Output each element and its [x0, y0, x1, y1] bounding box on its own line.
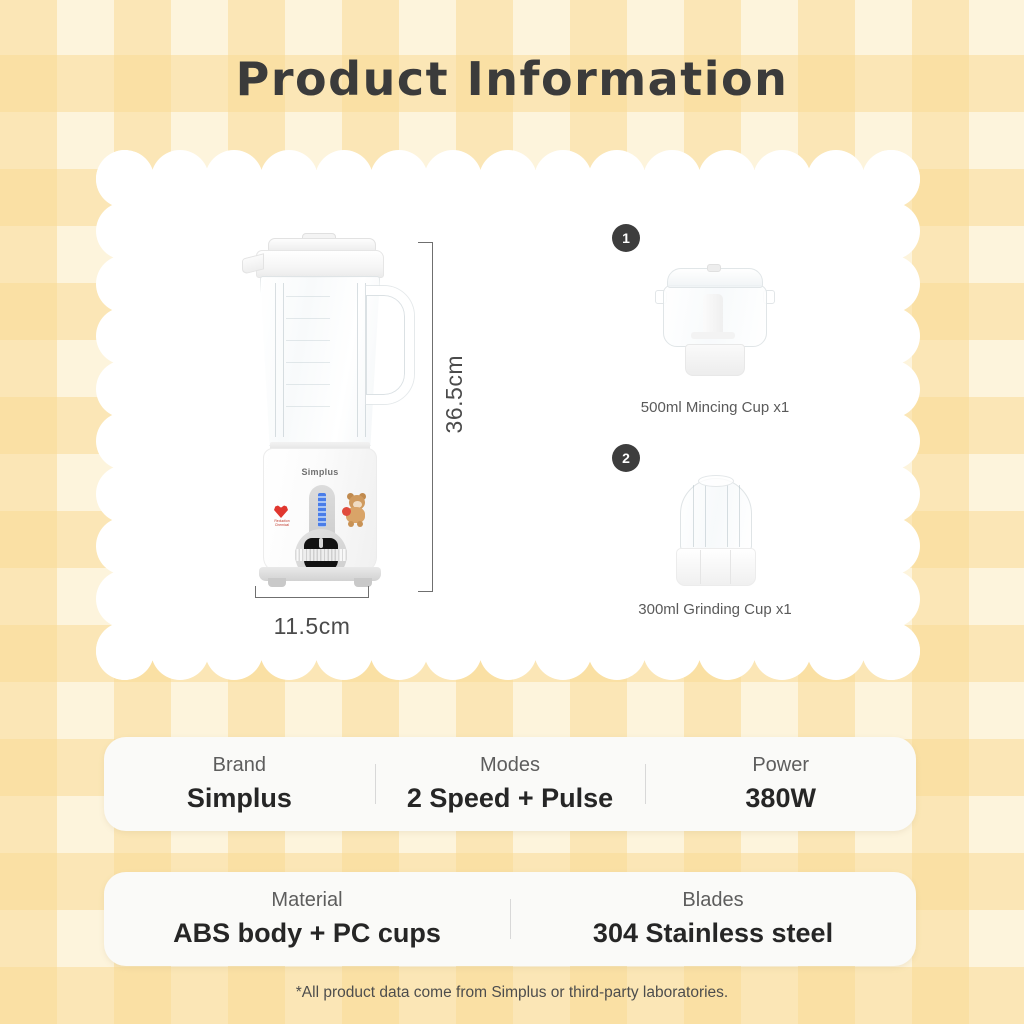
grinding-cup-base — [676, 548, 756, 586]
height-dimension-label: 36.5cm — [441, 355, 468, 433]
grinding-cup-image — [672, 478, 760, 586]
grinding-cup-dome — [680, 478, 752, 552]
panel-scallop-bump — [96, 412, 154, 470]
panel-scallop-bump — [643, 150, 701, 208]
panel-scallop-bump — [698, 150, 756, 208]
height-dimension-line — [432, 242, 433, 592]
teddy-bear-graphic — [340, 493, 372, 527]
spec-brand-label: Brand — [104, 754, 375, 777]
panel-scallop-bottom — [96, 622, 920, 680]
panel-scallop-bump — [424, 150, 482, 208]
spec-material: Material ABS body + PC cups — [104, 889, 510, 949]
panel-scallop-bump — [315, 150, 373, 208]
panel-scallop-left — [96, 150, 154, 680]
panel-scallop-bump — [370, 150, 428, 208]
panel-scallop-bump — [96, 307, 154, 365]
foot-pad-right — [354, 578, 372, 587]
panel-scallop-bump — [479, 150, 537, 208]
panel-scallop-bump — [479, 622, 537, 680]
foot-pad-left — [268, 578, 286, 587]
panel-scallop-bump — [862, 570, 920, 628]
panel-scallop-bump — [862, 150, 920, 208]
accessory-badge-2: 2 — [612, 444, 640, 472]
panel-scallop-bump — [96, 360, 154, 418]
spec-brand: Brand Simplus — [104, 754, 375, 814]
panel-scallop-bump — [96, 150, 154, 208]
accessory-caption-1: 500ml Mincing Cup x1 — [545, 399, 885, 416]
panel-scallop-bump — [534, 150, 592, 208]
panel-scallop-top — [96, 150, 920, 208]
panel-scallop-bump — [96, 255, 154, 313]
panel-scallop-bump — [862, 202, 920, 260]
panel-scallop-bump — [96, 517, 154, 575]
spec-power: Power 380W — [645, 754, 916, 814]
jar-handle — [366, 286, 414, 404]
spec-modes-value: 2 Speed + Pulse — [375, 783, 646, 814]
panel-scallop-bump — [862, 465, 920, 523]
mincing-cup-knob — [707, 264, 721, 272]
spec-power-label: Power — [645, 754, 916, 777]
grinding-cup-top — [698, 475, 734, 487]
spec-blades: Blades 304 Stainless steel — [510, 889, 916, 949]
spec-card-row-2: Material ABS body + PC cups Blades 304 S… — [104, 872, 916, 966]
panel-scallop-bump — [588, 622, 646, 680]
jar-measurement-marks — [286, 296, 332, 406]
panel-scallop-bump — [96, 202, 154, 260]
panel-scallop-bump — [862, 517, 920, 575]
panel-scallop-bump — [807, 622, 865, 680]
panel-scallop-bump — [370, 622, 428, 680]
panel-scallop-bump — [862, 255, 920, 313]
panel-scallop-bump — [205, 150, 263, 208]
width-dimension-label: 11.5cm — [255, 613, 369, 640]
page-title: Product Information — [0, 52, 1024, 106]
panel-scallop-bump — [96, 570, 154, 628]
base-ventilation — [295, 549, 347, 561]
footnote-text: *All product data come from Simplus or t… — [0, 984, 1024, 1002]
panel-scallop-bump — [862, 412, 920, 470]
panel-scallop-bump — [753, 622, 811, 680]
panel-scallop-bump — [862, 622, 920, 680]
spec-power-value: 380W — [645, 783, 916, 814]
panel-scallop-bump — [424, 622, 482, 680]
panel-scallop-bump — [698, 622, 756, 680]
spec-material-label: Material — [104, 889, 510, 912]
mincing-cup-image — [655, 268, 775, 376]
spec-modes: Modes 2 Speed + Pulse — [375, 754, 646, 814]
bear-apple — [342, 507, 351, 516]
led-indicator — [318, 493, 326, 527]
spec-blades-label: Blades — [510, 889, 916, 912]
spec-brand-value: Simplus — [104, 783, 375, 814]
panel-scallop-bump — [862, 307, 920, 365]
jar-collar — [256, 250, 384, 278]
spec-blades-value: 304 Stainless steel — [510, 918, 916, 949]
panel-scallop-bump — [151, 622, 209, 680]
panel-scallop-bump — [753, 150, 811, 208]
knob-notch — [319, 538, 323, 548]
accessory-badge-1: 1 — [612, 224, 640, 252]
spec-card-row-1: Brand Simplus Modes 2 Speed + Pulse Powe… — [104, 737, 916, 831]
panel-scallop-bump — [534, 622, 592, 680]
panel-scallop-bump — [260, 150, 318, 208]
panel-scallop-bump — [588, 150, 646, 208]
blender-product-image: Simplus Reduction Chemical — [238, 238, 413, 598]
heart-badge-text: Reduction Chemical — [268, 519, 296, 528]
mincing-cup-blade — [691, 332, 735, 339]
panel-scallop-bump — [96, 622, 154, 680]
panel-scallop-bump — [807, 150, 865, 208]
accessory-caption-2: 300ml Grinding Cup x1 — [545, 601, 885, 618]
panel-scallop-bump — [96, 465, 154, 523]
spec-modes-label: Modes — [375, 754, 646, 777]
mincing-cup-base — [685, 344, 745, 376]
width-dimension-line — [255, 597, 369, 598]
panel-scallop-bump — [643, 622, 701, 680]
brand-logo: Simplus — [264, 467, 376, 477]
panel-scallop-bump — [151, 150, 209, 208]
blender-base: Simplus Reduction Chemical — [263, 448, 377, 573]
heart-icon — [274, 505, 288, 518]
spec-material-value: ABS body + PC cups — [104, 918, 510, 949]
